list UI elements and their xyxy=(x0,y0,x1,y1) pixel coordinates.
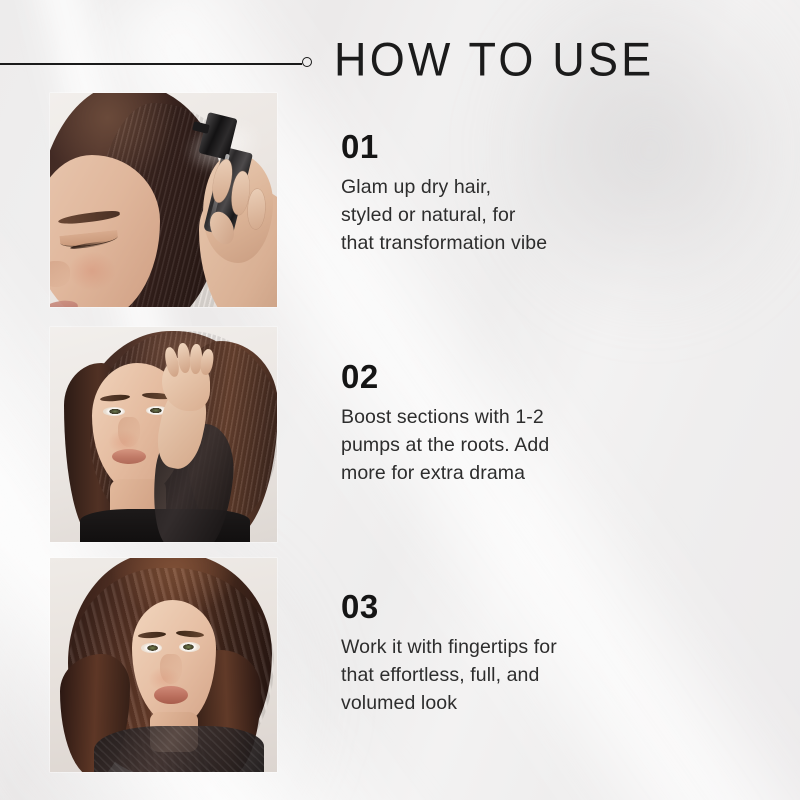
step-1-number: 01 xyxy=(341,130,641,164)
step-2-line-2: pumps at the roots. Add xyxy=(341,431,641,459)
step-1-line-3: that transformation vibe xyxy=(341,229,641,257)
step-3-number: 03 xyxy=(341,590,641,624)
photo-3-lips xyxy=(154,686,188,704)
step-photo-3 xyxy=(50,558,277,772)
header-rule-icon xyxy=(0,63,302,65)
step-2-description: Boost sections with 1-2 pumps at the roo… xyxy=(341,403,641,487)
circle-outline-icon xyxy=(302,57,312,67)
step-1-line-2: styled or natural, for xyxy=(341,201,641,229)
step-2-line-3: more for extra drama xyxy=(341,459,641,487)
step-2-number: 02 xyxy=(341,360,641,394)
photo-3-eye-right xyxy=(179,642,200,652)
step-3: 03 Work it with fingertips for that effo… xyxy=(341,590,641,717)
step-photo-2 xyxy=(50,327,277,542)
photo-2-lips xyxy=(112,449,146,464)
step-3-line-3: volumed look xyxy=(341,689,641,717)
photo-2-nose xyxy=(118,417,140,447)
step-1-line-1: Glam up dry hair, xyxy=(341,173,641,201)
photo-1-scene xyxy=(50,93,277,307)
step-3-line-2: that effortless, full, and xyxy=(341,661,641,689)
photo-2-scene xyxy=(50,327,277,542)
step-1: 01 Glam up dry hair, styled or natural, … xyxy=(341,130,641,257)
photo-2-eye-left xyxy=(103,407,125,416)
step-3-description: Work it with fingertips for that effortl… xyxy=(341,633,641,717)
step-1-description: Glam up dry hair, styled or natural, for… xyxy=(341,173,641,257)
photo-3-nose xyxy=(160,654,182,684)
page-title: HOW TO USE xyxy=(334,32,654,87)
step-2: 02 Boost sections with 1-2 pumps at the … xyxy=(341,360,641,487)
photo-3-scene xyxy=(50,558,277,772)
step-photo-1 xyxy=(50,93,277,307)
how-to-use-infographic: HOW TO USE xyxy=(0,0,800,800)
step-2-line-1: Boost sections with 1-2 xyxy=(341,403,641,431)
step-3-line-1: Work it with fingertips for xyxy=(341,633,641,661)
photo-3-eye-left xyxy=(141,643,162,653)
photo-3-mesh-texture xyxy=(94,726,264,772)
